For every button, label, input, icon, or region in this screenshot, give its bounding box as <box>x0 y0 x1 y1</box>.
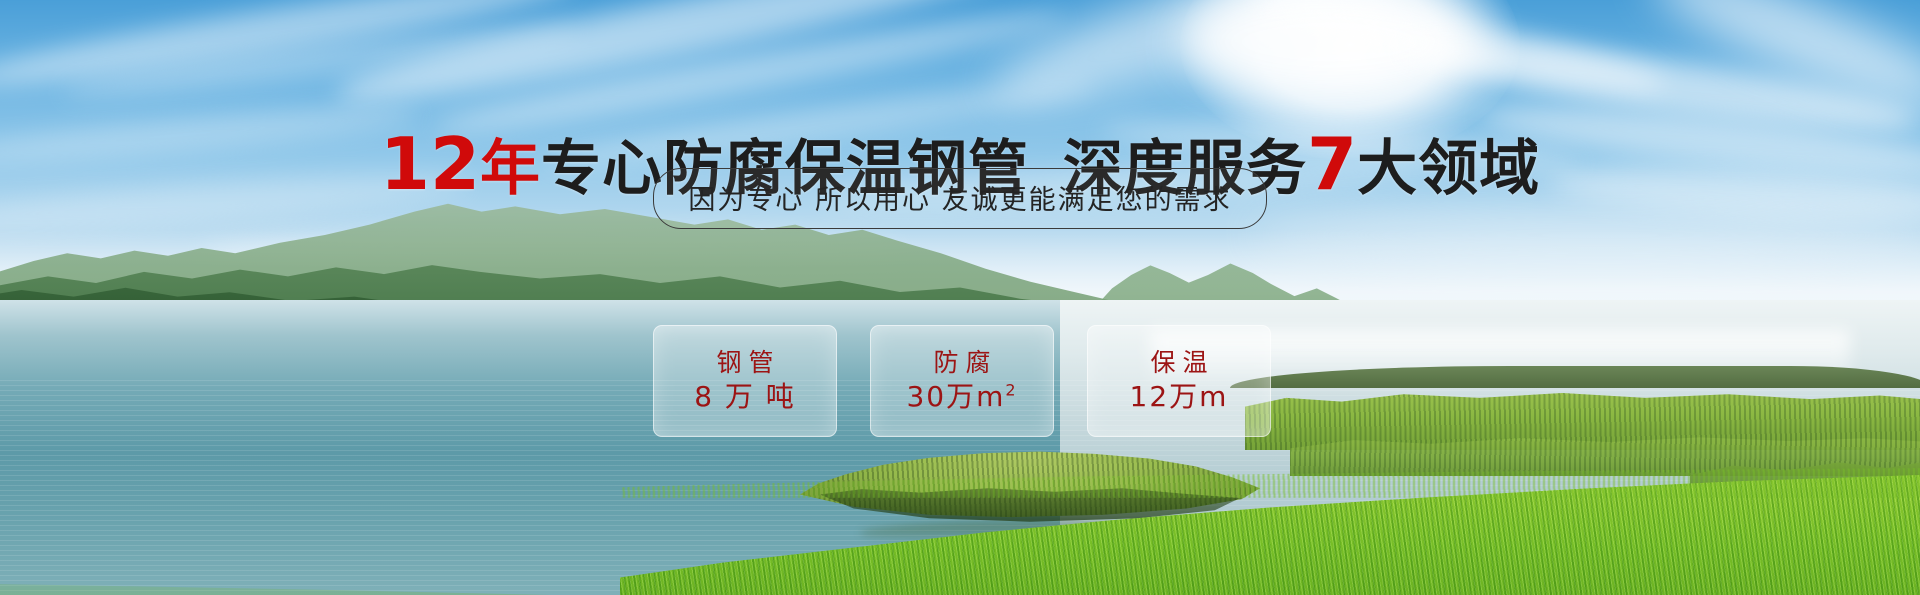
stat-card-anticorrosion[interactable]: 防腐 30万m2 <box>870 325 1054 437</box>
stat-card-value: 8 万 吨 <box>694 382 796 413</box>
stat-card-value-text: 8 万 吨 <box>694 380 796 413</box>
subtitle-pill: 因为专心 所以用心 友诚更能满足您的需求 <box>653 168 1266 229</box>
hero-banner: 12年专心防腐保温钢管深度服务7大领域 因为专心 所以用心 友诚更能满足您的需求… <box>0 0 1920 595</box>
subtitle-wrapper: 因为专心 所以用心 友诚更能满足您的需求 <box>0 168 1920 229</box>
stat-card-value-text: 30万m <box>906 380 1005 413</box>
stat-card-title: 钢管 <box>709 349 780 377</box>
stat-card-insulation[interactable]: 保温 12万m <box>1087 325 1271 437</box>
stat-card-value: 12万m <box>1130 382 1229 413</box>
stat-card-steel-pipe[interactable]: 钢管 8 万 吨 <box>653 325 837 437</box>
stat-card-title: 保温 <box>1143 349 1214 377</box>
stat-card-value: 30万m2 <box>906 382 1017 413</box>
stat-card-value-superscript: 2 <box>1005 381 1017 400</box>
stat-card-title: 防腐 <box>926 349 997 377</box>
stat-card-value-text: 12万m <box>1130 380 1229 413</box>
stats-card-group: 钢管 8 万 吨 防腐 30万m2 保温 12万m <box>653 325 1271 437</box>
